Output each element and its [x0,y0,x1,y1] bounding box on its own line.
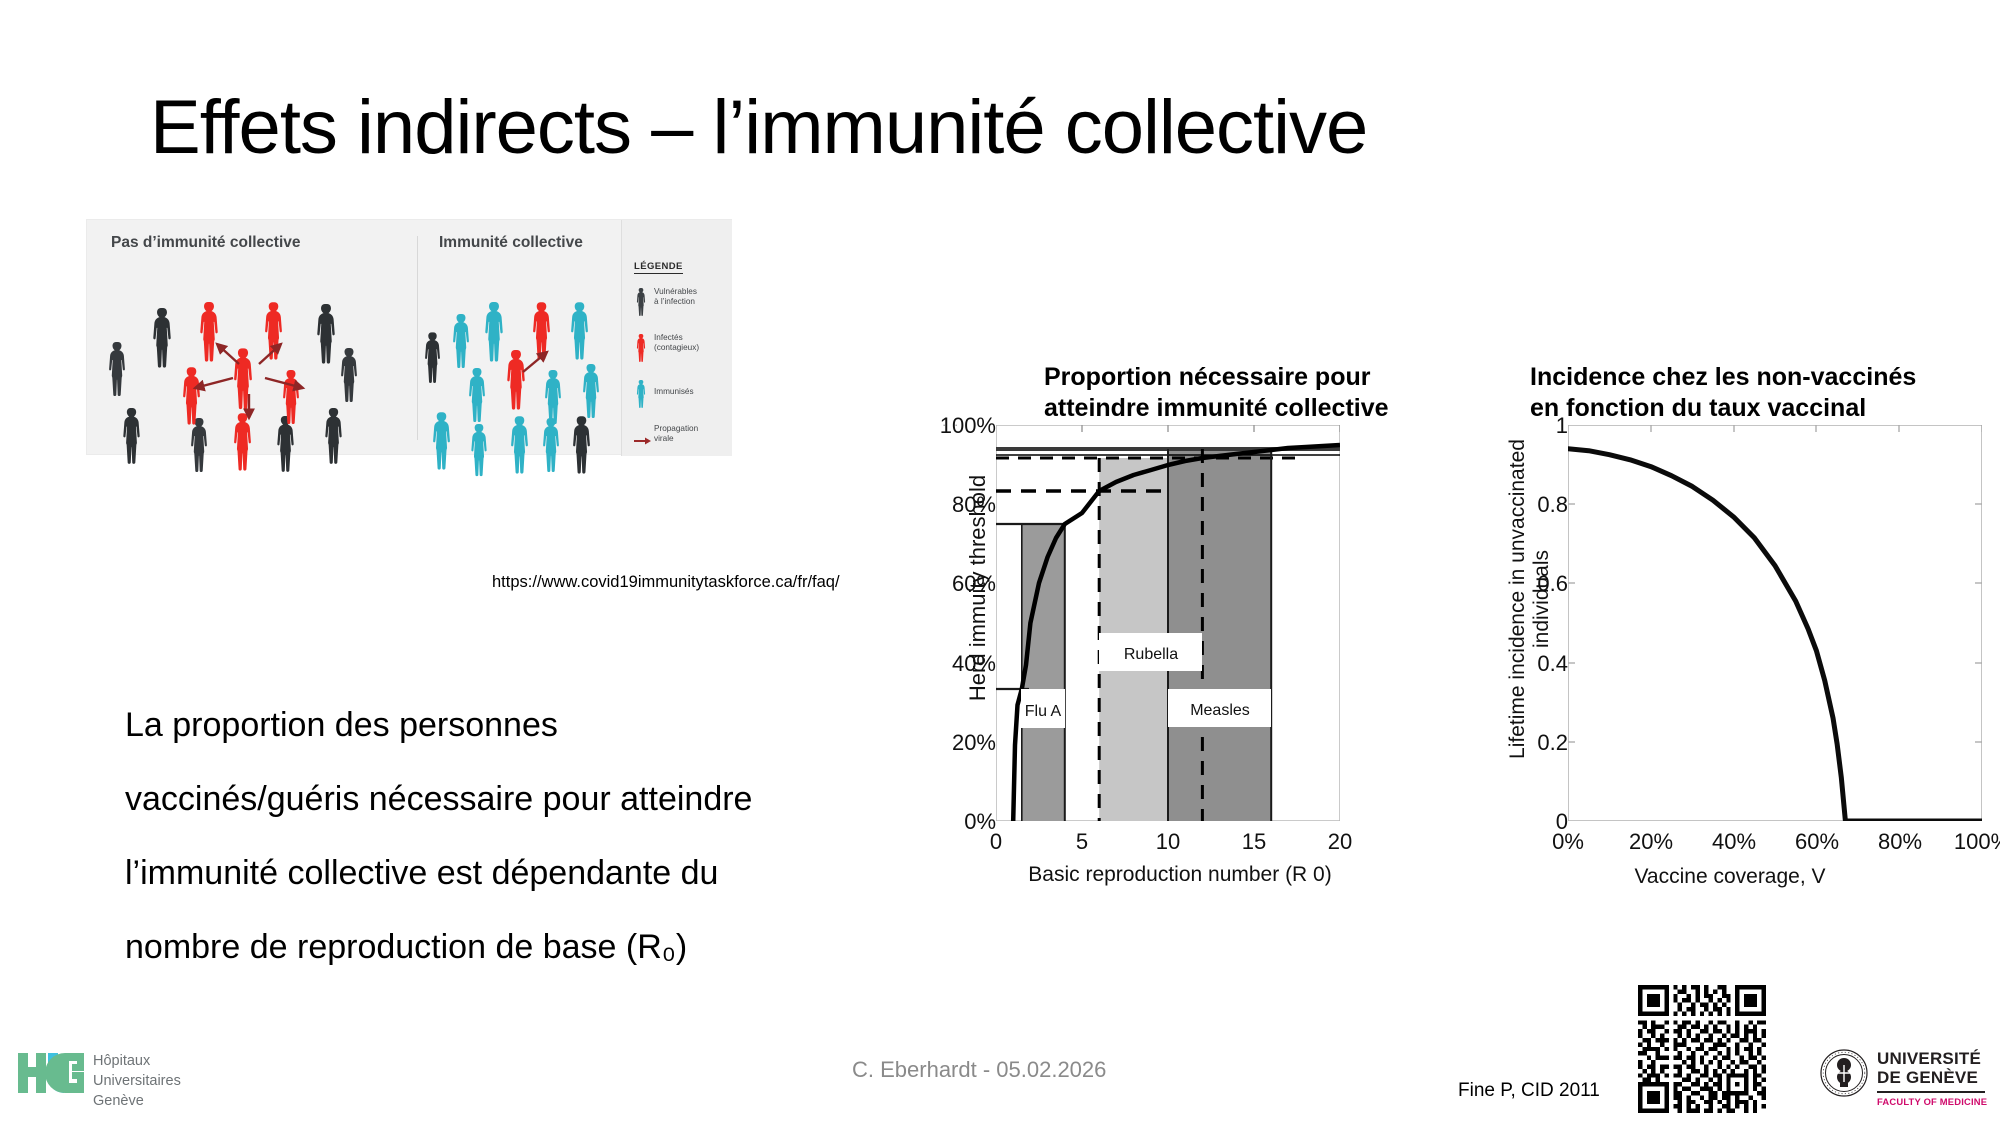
chart1-x-axis-label: Basic reproduction number (R 0) [980,863,1380,887]
unige-name: UNIVERSITÉ DE GENÈVE [1877,1049,1987,1087]
chart1-heading: Proportion nécessaire pour atteindre imm… [1044,362,1484,425]
person-dark-icon [573,416,590,478]
panel-herd-immunity [423,220,619,454]
chart2-x-tick: 0% [1533,829,1603,855]
chart1-x-axis-label-text: Basic reproduction number (R 0) [1028,863,1331,886]
chart2-y-tick: 0.8 [1498,492,1568,518]
chart1-heading-line1: Proportion nécessaire pour [1044,362,1484,393]
infographic-source-url[interactable]: https://www.covid19immunitytaskforce.ca/… [492,573,840,592]
chart-herd-immunity-threshold: Herd immuity threshold 100% 80% 60% 40% … [940,425,1400,920]
body-line-2: vaccinés/guéris nécessaire pour atteindr… [125,762,925,836]
hug-logo-wordmark: Hôpitaux Universitaires Genève [93,1051,181,1111]
person-teal-icon [511,416,528,478]
viral-spread-arrow-icon [519,346,559,378]
chart1-y-tick: 20% [906,730,996,756]
chart1-x-tick: 10 [1148,829,1188,855]
legend-title: LÉGENDE [634,261,683,274]
chart1-heading-line2: atteindre immunité collective [1044,393,1484,424]
unige-wordmark: UNIVERSITÉ DE GENÈVE FACULTY OF MEDICINE [1877,1049,1987,1107]
person-teal-icon [485,302,503,366]
chart2-heading-line2: en fonction du taux vaccinal [1530,393,1990,424]
chart2-y-tick: 1 [1498,413,1568,439]
svg-text:Rubella: Rubella [1124,646,1178,663]
chart1-crop-artifact: · · [942,417,960,432]
person-dark-icon [425,332,440,387]
person-red-icon [633,334,649,369]
person-teal-icon [469,368,485,426]
person-dark-icon [109,342,125,400]
unige-crest-icon [1820,1049,1868,1097]
chart1-plot-area: Flu A Rubella Measles [996,425,1340,821]
chart2-x-tick: 40% [1699,829,1769,855]
svg-text:Measles: Measles [1190,702,1250,719]
person-teal-icon [571,302,588,364]
chart1-x-tick: 0 [976,829,1016,855]
chart-lifetime-incidence: Lifetime incidence in unvaccinated indiv… [1470,425,1990,920]
chart1-x-tick: 20 [1320,829,1360,855]
person-dark-icon [633,288,649,323]
person-dark-icon [123,408,140,468]
chart2-x-axis-label: Vaccine coverage, V [1530,865,1930,889]
body-line-1: La proportion des personnes [125,688,925,762]
unige-divider [1877,1091,1985,1093]
footer-author-date: C. Eberhardt - 05.02.2026 [852,1057,1106,1083]
chart1-y-tick: 80% [906,492,996,518]
legend-label-infected: Infectés (contagieux) [654,333,699,354]
hug-line-1: Hôpitaux [93,1051,181,1071]
chart1-x-tick: 5 [1062,829,1102,855]
panel-no-herd-immunity [87,220,417,454]
person-teal-icon [633,380,649,415]
chart2-y-tick: 0.6 [1498,571,1568,597]
chart2-heading: Incidence chez les non-vaccinés en fonct… [1530,362,1990,425]
hug-logo-mark [18,1053,84,1093]
chart2-x-tick: 60% [1782,829,1852,855]
unige-faculty-label: FACULTY OF MEDICINE [1877,1096,1987,1107]
chart2-x-tick: 80% [1865,829,1935,855]
hug-line-3: Genève [93,1091,181,1111]
infographic-legend: LÉGENDE Vulnérables à l’infection Infect… [622,220,732,456]
source-reference: Fine P, CID 2011 [1458,1080,1600,1102]
person-teal-icon [583,364,599,422]
chart1-x-tick: 15 [1234,829,1274,855]
hug-logo: Hôpitaux Universitaires Genève [18,1053,258,1115]
person-teal-icon [543,418,559,476]
person-dark-icon [153,308,171,372]
legend-label-spread: Propagation virale [654,424,698,445]
chart2-heading-line1: Incidence chez les non-vaccinés [1530,362,1990,393]
hug-line-2: Universitaires [93,1071,181,1091]
chart2-x-tick: 100% [1947,829,2000,855]
chart2-plot-area [1568,425,1982,821]
viral-spread-arrow-icon [173,316,353,446]
person-teal-icon [471,424,487,480]
chart2-y-tick: 0.2 [1498,730,1568,756]
unige-logo: UNIVERSITÉ DE GENÈVE FACULTY OF MEDICINE [1820,1045,1990,1117]
svg-text:Flu A: Flu A [1025,703,1062,720]
legend-label-vulnerable: Vulnérables à l’infection [654,287,697,308]
herd-immunity-infographic: Pas d’immunité collective Immunité colle… [86,219,732,455]
page-title: Effets indirects – l’immunité collective [150,88,1850,168]
unige-name-line1: UNIVERSITÉ [1877,1049,1987,1068]
chart2-x-tick: 20% [1616,829,1686,855]
body-paragraph: La proportion des personnes vaccinés/gué… [125,688,925,984]
chart1-y-tick: 40% [906,651,996,677]
body-line-4: nombre de reproduction de base (R₀) [125,910,925,984]
chart2-y-tick: 0.4 [1498,651,1568,677]
body-line-3: l’immunité collective est dépendante du [125,836,925,910]
unige-name-line2: DE GENÈVE [1877,1068,1987,1087]
person-teal-icon [453,314,469,372]
person-teal-icon [433,412,450,474]
qr-code[interactable] [1638,985,1766,1113]
legend-label-immunized: Immunisés [654,387,694,397]
arrow-red-icon [634,432,652,450]
panel-divider [417,236,418,440]
chart1-y-tick: 60% [906,571,996,597]
